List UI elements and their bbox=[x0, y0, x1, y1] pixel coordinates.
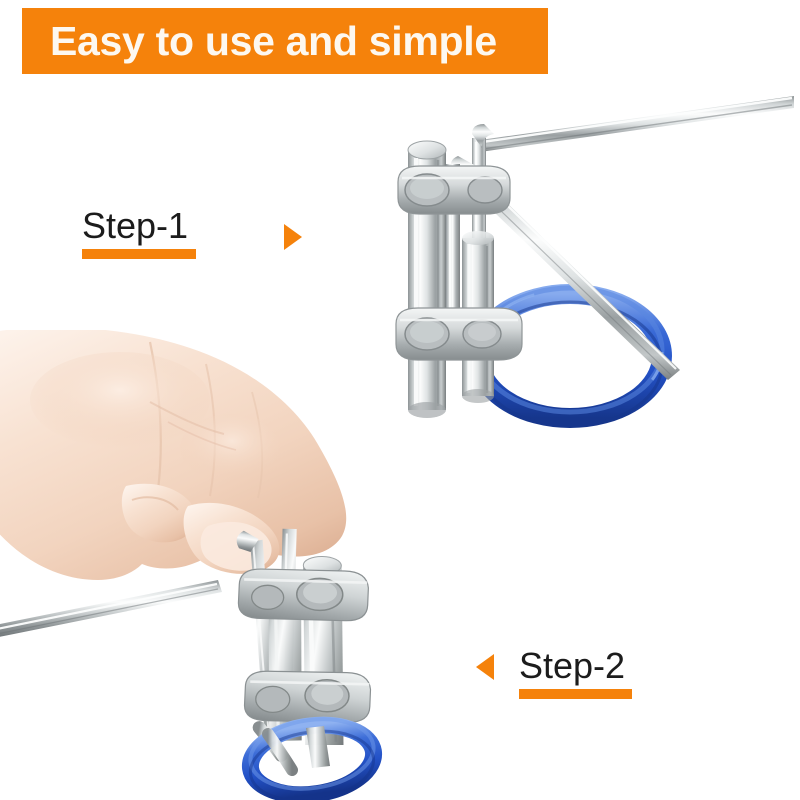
header-banner: Easy to use and simple bbox=[22, 8, 548, 74]
step-1-underline bbox=[82, 249, 196, 259]
product-photo-step-2 bbox=[0, 330, 420, 800]
page-title: Easy to use and simple bbox=[50, 21, 497, 62]
step-2-text: Step-2 bbox=[519, 648, 632, 684]
step-1-label: Step-1 bbox=[82, 208, 196, 259]
upper-clamp-plate bbox=[398, 166, 510, 214]
upper-handle-rod bbox=[472, 96, 794, 298]
product-photo-step-1 bbox=[390, 78, 800, 478]
left-handle-rod bbox=[0, 580, 222, 638]
step-1-text: Step-1 bbox=[82, 208, 196, 244]
arrow-left-icon bbox=[476, 654, 494, 680]
step-2-label: Step-2 bbox=[519, 648, 632, 699]
product-infographic-page: Easy to use and simple Step-1 Step-2 bbox=[0, 0, 800, 800]
arrow-right-icon bbox=[284, 224, 302, 250]
step-2-underline bbox=[519, 689, 632, 699]
